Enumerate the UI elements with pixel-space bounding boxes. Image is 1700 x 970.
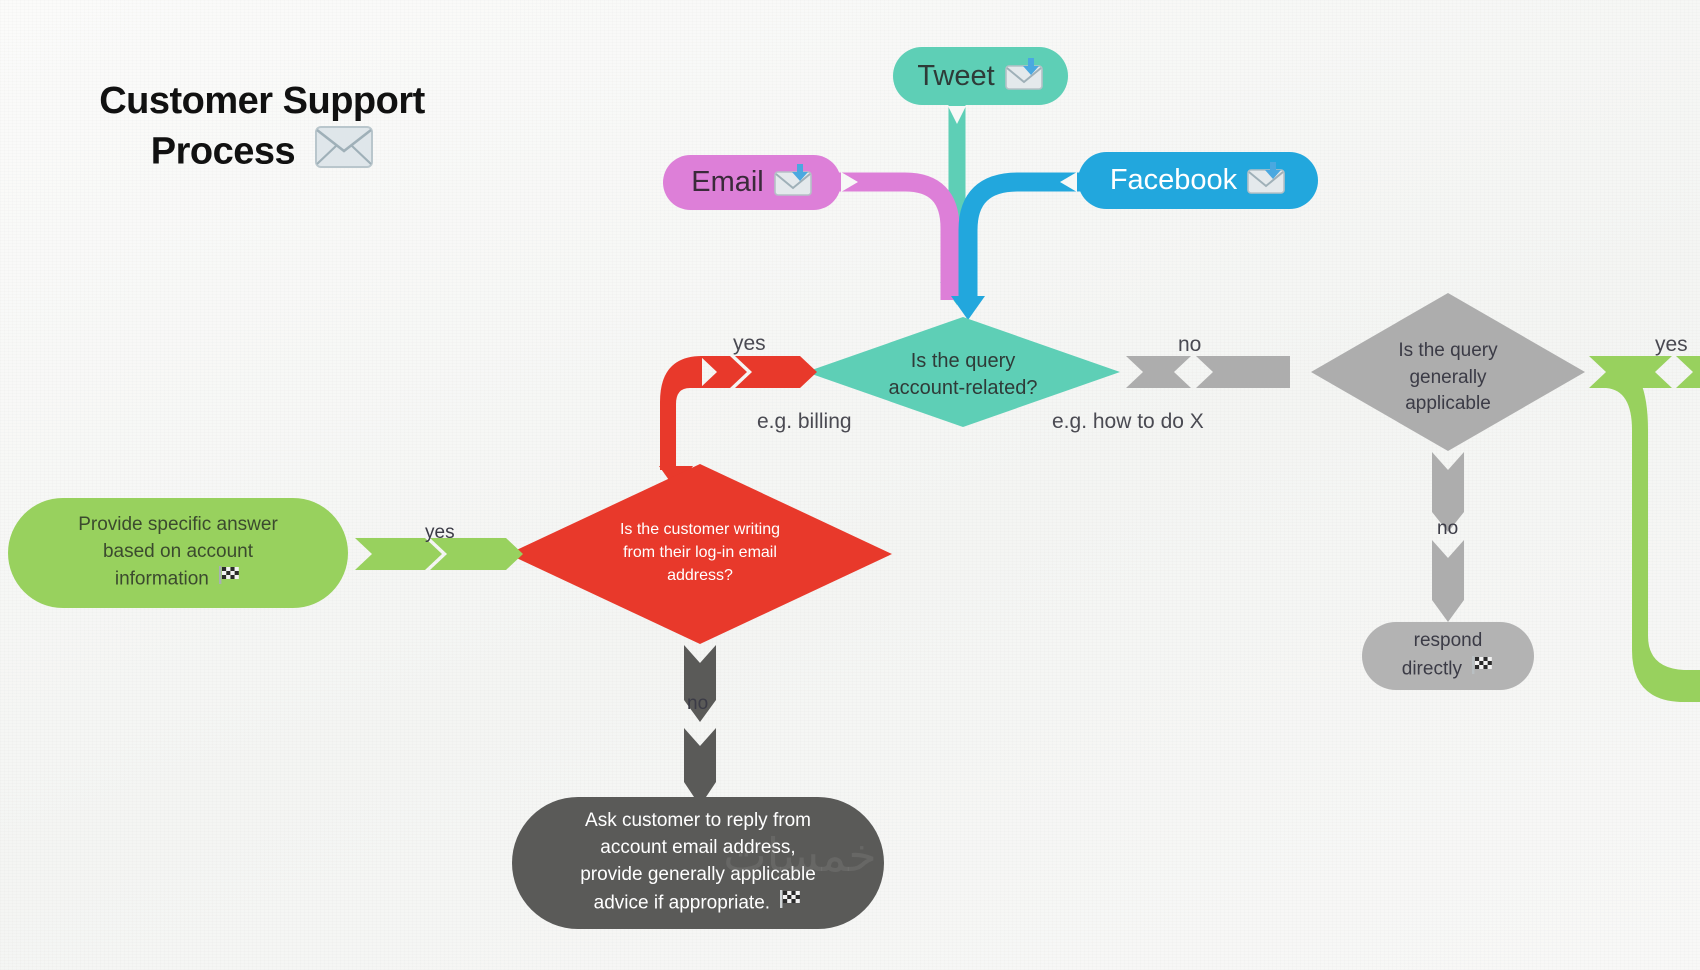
watermark: خمسات bbox=[660, 828, 940, 882]
page-title-line1: Customer Support bbox=[99, 80, 425, 122]
edge-label-applicable-yes: yes bbox=[1655, 333, 1688, 357]
edge-label-applicable-no: no bbox=[1437, 518, 1458, 540]
source-node-email[interactable]: Email bbox=[663, 155, 841, 210]
envelope-icon bbox=[315, 126, 373, 181]
edge-label-login-no: no bbox=[687, 693, 708, 715]
source-node-facebook[interactable]: Facebook bbox=[1078, 152, 1318, 209]
edge-label-account-yes-example: e.g. billing bbox=[757, 410, 852, 434]
outcome-node-respond-directly[interactable]: respond directly bbox=[1362, 622, 1534, 690]
connector-applicable-yes bbox=[1589, 356, 1700, 702]
chequered-flag-icon bbox=[780, 889, 802, 918]
connector-account-no bbox=[1126, 356, 1290, 388]
page-title: Customer Support Process bbox=[52, 78, 472, 180]
chequered-flag-icon bbox=[1472, 655, 1494, 684]
decision-generally-applicable[interactable] bbox=[1311, 293, 1585, 451]
incoming-envelope-icon bbox=[1246, 162, 1286, 199]
source-node-tweet-label: Tweet bbox=[917, 60, 994, 93]
connector-login-no bbox=[684, 645, 716, 806]
connector-facebook-to-account-decision bbox=[951, 172, 1082, 320]
source-node-email-label: Email bbox=[691, 166, 764, 199]
page-title-line2: Process bbox=[151, 130, 295, 172]
incoming-envelope-icon bbox=[1004, 58, 1044, 95]
connector-email-to-account-decision bbox=[836, 172, 950, 300]
incoming-envelope-icon bbox=[773, 164, 813, 201]
chequered-flag-icon bbox=[219, 565, 241, 594]
edge-label-account-no-example: e.g. how to do X bbox=[1052, 410, 1204, 434]
edge-label-account-no: no bbox=[1178, 333, 1201, 357]
source-node-facebook-label: Facebook bbox=[1110, 164, 1237, 197]
edge-label-account-yes: yes bbox=[733, 332, 766, 356]
source-node-tweet[interactable]: Tweet bbox=[893, 47, 1068, 105]
outcome-node-specific-answer[interactable]: Provide specific answer based on account… bbox=[8, 498, 348, 608]
edge-label-login-yes: yes bbox=[425, 522, 455, 544]
decision-login-email[interactable] bbox=[508, 464, 892, 644]
